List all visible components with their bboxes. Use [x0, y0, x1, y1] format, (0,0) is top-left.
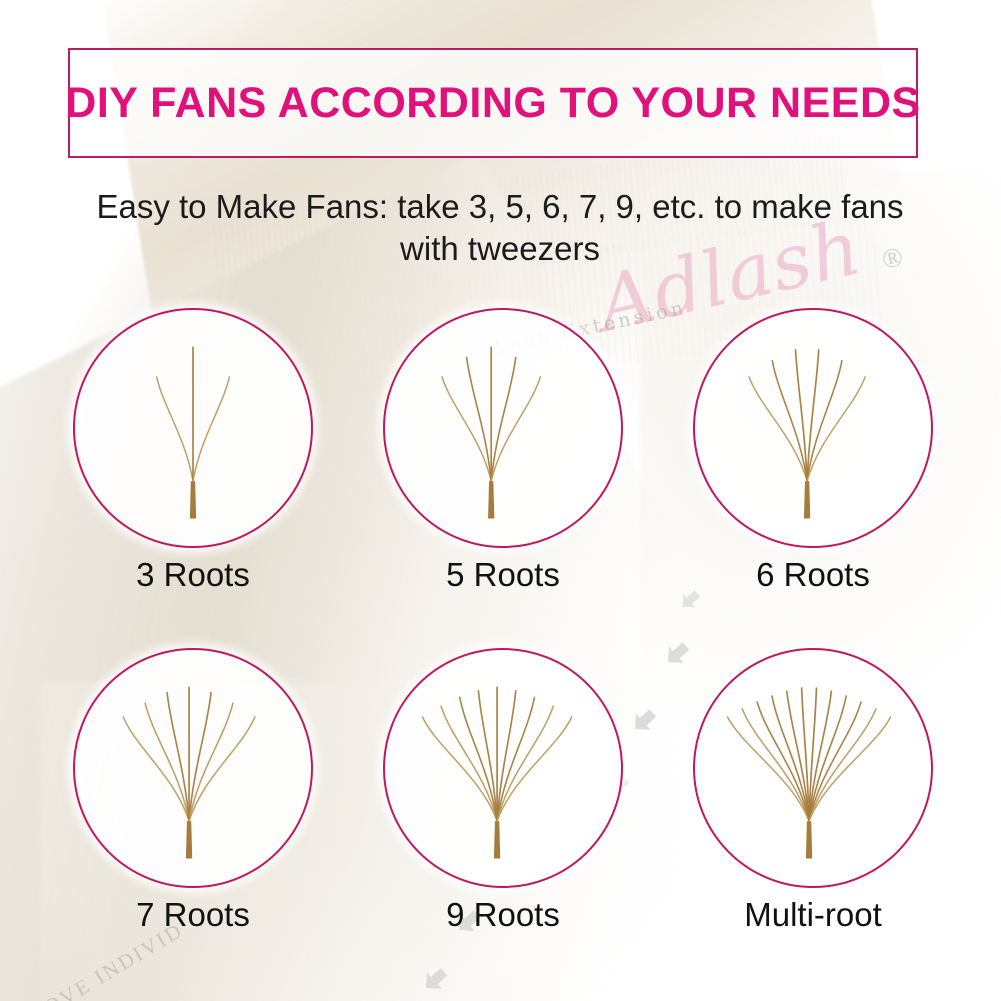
fan-label: 7 Roots [68, 897, 318, 933]
fan-card-6-roots[interactable]: 6 Roots [688, 308, 938, 593]
fan-card-5-roots[interactable]: 5 Roots [378, 308, 628, 593]
fan-grid: 3 Roots 5 Roots 6 Roots 7 Roots 9 Roots … [0, 0, 1001, 1001]
fan-illustration-fan-9-roots [383, 648, 623, 888]
fan-label: 3 Roots [68, 557, 318, 593]
fan-illustration-fan-7-roots [73, 648, 313, 888]
fan-illustration-fan-5-roots [383, 308, 623, 548]
fan-card-9-roots[interactable]: 9 Roots [378, 648, 628, 933]
fan-label: Multi-root [688, 897, 938, 933]
fan-label: 6 Roots [688, 557, 938, 593]
fan-card-multi-root[interactable]: Multi-root [688, 648, 938, 933]
fan-card-7-roots[interactable]: 7 Roots [68, 648, 318, 933]
fan-illustration-fan-multi-root [693, 648, 933, 888]
infographic-root: Adlash Lash Extension ® REMOVE INDIVID D… [0, 0, 1001, 1001]
fan-card-3-roots[interactable]: 3 Roots [68, 308, 318, 593]
fan-illustration-fan-6-roots [693, 308, 933, 548]
fan-label: 9 Roots [378, 897, 628, 933]
fan-label: 5 Roots [378, 557, 628, 593]
fan-illustration-fan-3-roots [73, 308, 313, 548]
